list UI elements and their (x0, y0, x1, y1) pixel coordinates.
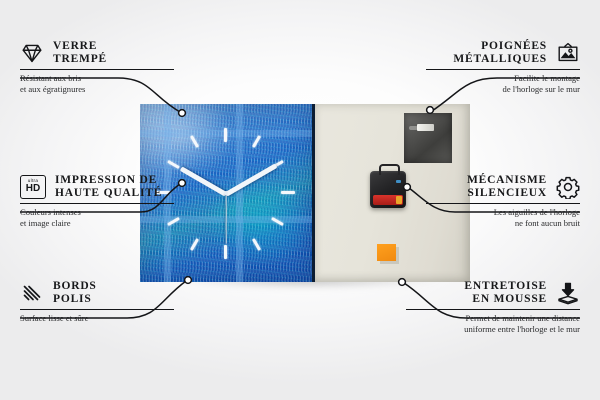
callout-divider (406, 309, 580, 310)
callout-description: Permet de maintenir une distance uniform… (406, 313, 580, 334)
product-photo (140, 104, 470, 282)
callout-entretoise-en-mousse[interactable]: ENTRETOISE EN MOUSSE Permet de maintenir… (406, 280, 580, 334)
badge-hd-label: HD (26, 184, 40, 194)
callout-header: BORDS POLIS (20, 280, 174, 305)
polished-edges-icon (20, 281, 44, 305)
clock-hand-second (225, 194, 226, 244)
callout-title: ENTRETOISE EN MOUSSE (464, 280, 547, 305)
picture-frame-hook-icon (556, 41, 580, 65)
callout-description: Les aiguilles de l'horloge ne font aucun… (426, 207, 580, 228)
callout-divider (426, 69, 580, 70)
callout-verre-trempe[interactable]: VERRE TREMPÉ Résistant aux bris et aux é… (20, 40, 174, 94)
callout-header: ENTRETOISE EN MOUSSE (406, 280, 580, 305)
diamond-icon (20, 41, 44, 65)
gear-icon (556, 175, 580, 199)
callout-title: POIGNÉES MÉTALLIQUES (453, 40, 547, 65)
metal-hanger-plate (404, 113, 452, 163)
callout-bords-polis[interactable]: BORDS POLIS Surface lisse et sûre (20, 280, 174, 324)
callout-divider (426, 203, 580, 204)
foam-spacer (377, 244, 396, 261)
foam-spacer-arrow-icon (556, 281, 580, 305)
callout-divider (20, 203, 174, 204)
callout-header: ultra HD IMPRESSION DE HAUTE QUALITÉ (20, 174, 174, 199)
ultra-hd-badge-icon: ultra HD (20, 175, 46, 199)
callout-header: MÉCANISME SILENCIEUX (426, 174, 580, 199)
battery (373, 195, 403, 205)
clock-hand-hour (180, 166, 228, 196)
callout-mecanisme-silencieux[interactable]: MÉCANISME SILENCIEUX Les aiguilles de l'… (426, 174, 580, 228)
callout-divider (20, 309, 174, 310)
callout-description: Résistant aux bris et aux égratignures (20, 73, 174, 94)
callout-poignees-metalliques[interactable]: POIGNÉES MÉTALLIQUES Facilite le montage… (426, 40, 580, 94)
callout-description: Surface lisse et sûre (20, 313, 174, 323)
callout-description: Facilite le montage de l'horloge sur le … (426, 73, 580, 94)
infographic-canvas: VERRE TREMPÉ Résistant aux bris et aux é… (0, 0, 600, 400)
callout-title: MÉCANISME SILENCIEUX (467, 174, 547, 199)
callout-header: POIGNÉES MÉTALLIQUES (426, 40, 580, 65)
callout-title: VERRE TREMPÉ (53, 40, 107, 65)
callout-title: IMPRESSION DE HAUTE QUALITÉ (55, 174, 162, 199)
callout-divider (20, 69, 174, 70)
clock-hand-minute (225, 163, 278, 196)
callout-title: BORDS POLIS (53, 280, 97, 305)
callout-impression-haute-qualite[interactable]: ultra HD IMPRESSION DE HAUTE QUALITÉ Cou… (20, 174, 174, 228)
callout-description: Couleurs intenses et image claire (20, 207, 174, 228)
callout-header: VERRE TREMPÉ (20, 40, 174, 65)
quartz-movement (370, 171, 406, 208)
